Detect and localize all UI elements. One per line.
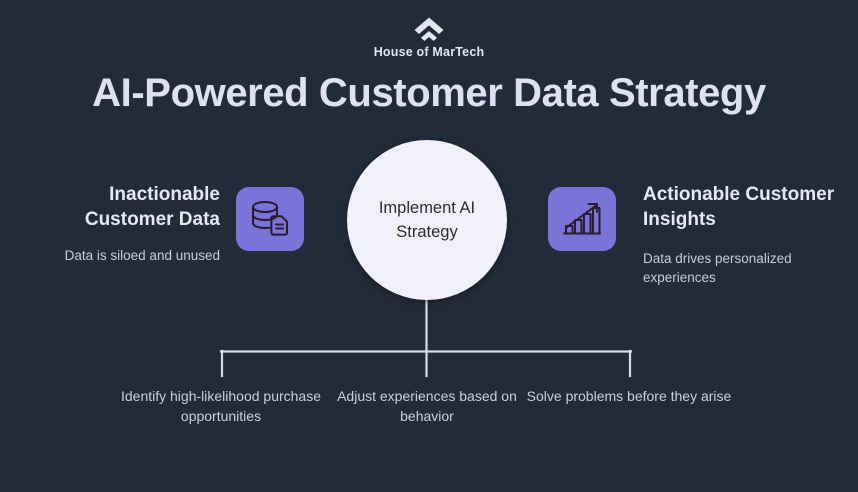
outcome-item: Solve problems before they arise xyxy=(524,386,734,406)
double-chevron-up-icon xyxy=(412,16,446,42)
left-branch-text: Inactionable Customer Data Data is siloe… xyxy=(20,182,220,265)
database-document-icon xyxy=(249,199,291,239)
center-node: Implement AI Strategy xyxy=(347,140,507,300)
left-branch-subtext: Data is siloed and unused xyxy=(20,246,220,265)
outcome-item: Adjust experiences based on behavior xyxy=(322,386,532,426)
left-branch-icon-tile xyxy=(236,187,304,251)
center-node-label: Implement AI Strategy xyxy=(347,196,507,244)
right-branch-subtext: Data drives personalized experiences xyxy=(643,249,843,287)
infographic-canvas: House of MarTech AI-Powered Customer Dat… xyxy=(0,0,858,492)
page-title: AI-Powered Customer Data Strategy xyxy=(0,68,858,118)
bar-chart-growth-icon xyxy=(561,199,603,239)
right-branch-text: Actionable Customer Insights Data drives… xyxy=(643,182,843,287)
brand-name: House of MarTech xyxy=(0,45,858,59)
outcome-item: Identify high-likelihood purchase opport… xyxy=(116,386,326,426)
brand-block: House of MarTech xyxy=(0,16,858,59)
left-branch-heading: Inactionable Customer Data xyxy=(20,182,220,232)
right-branch-icon-tile xyxy=(548,187,616,251)
right-branch-heading: Actionable Customer Insights xyxy=(643,182,843,232)
